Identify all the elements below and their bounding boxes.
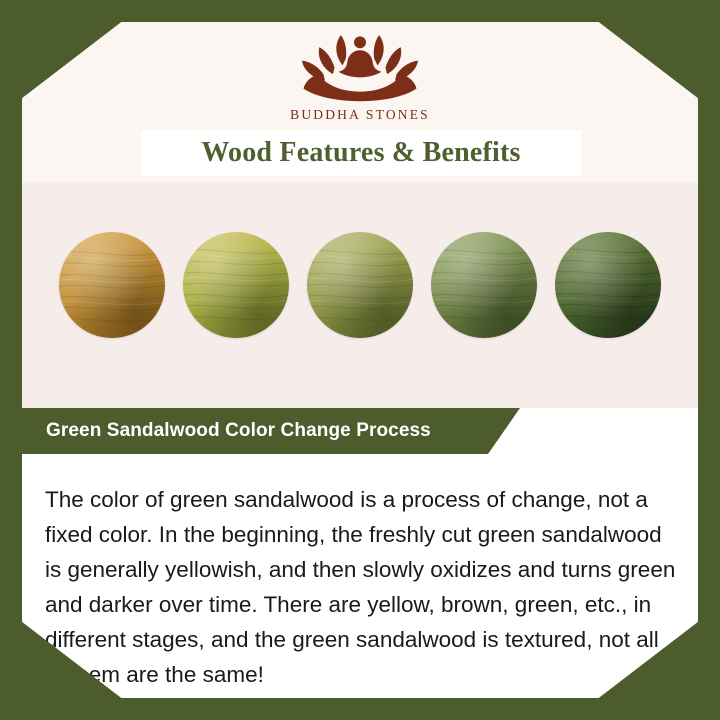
body-area: The color of green sandalwood is a proce… — [22, 454, 698, 698]
bead-stage-1 — [59, 232, 165, 338]
swatch-photo-strip — [22, 182, 698, 408]
section-heading: Green Sandalwood Color Change Process — [46, 408, 431, 454]
title-banner: Wood Features & Benefits — [141, 130, 581, 176]
bead-stage-4 — [431, 232, 537, 338]
page-title: Wood Features & Benefits — [201, 137, 520, 169]
brand-name: BUDDHA STONES — [22, 107, 698, 123]
body-paragraph: The color of green sandalwood is a proce… — [45, 482, 683, 692]
poster-page: BUDDHA STONES Wood Features & Benefits — [0, 0, 720, 720]
section-heading-ribbon: Green Sandalwood Color Change Process — [22, 408, 698, 454]
poster-content-panel: BUDDHA STONES Wood Features & Benefits — [22, 22, 698, 698]
ribbon-notch — [488, 408, 698, 454]
header-area: BUDDHA STONES Wood Features & Benefits — [22, 22, 698, 182]
bead-shading — [555, 232, 661, 338]
bead-stage-3 — [307, 232, 413, 338]
bead-shading — [59, 232, 165, 338]
lotus-buddha-icon — [280, 28, 440, 106]
bead-stage-5 — [555, 232, 661, 338]
bead-shading — [307, 232, 413, 338]
bead-shading — [431, 232, 537, 338]
bead-shading — [183, 232, 289, 338]
brand-logo: BUDDHA STONES — [22, 28, 698, 123]
bead-stage-2 — [183, 232, 289, 338]
bead-row — [22, 232, 698, 338]
